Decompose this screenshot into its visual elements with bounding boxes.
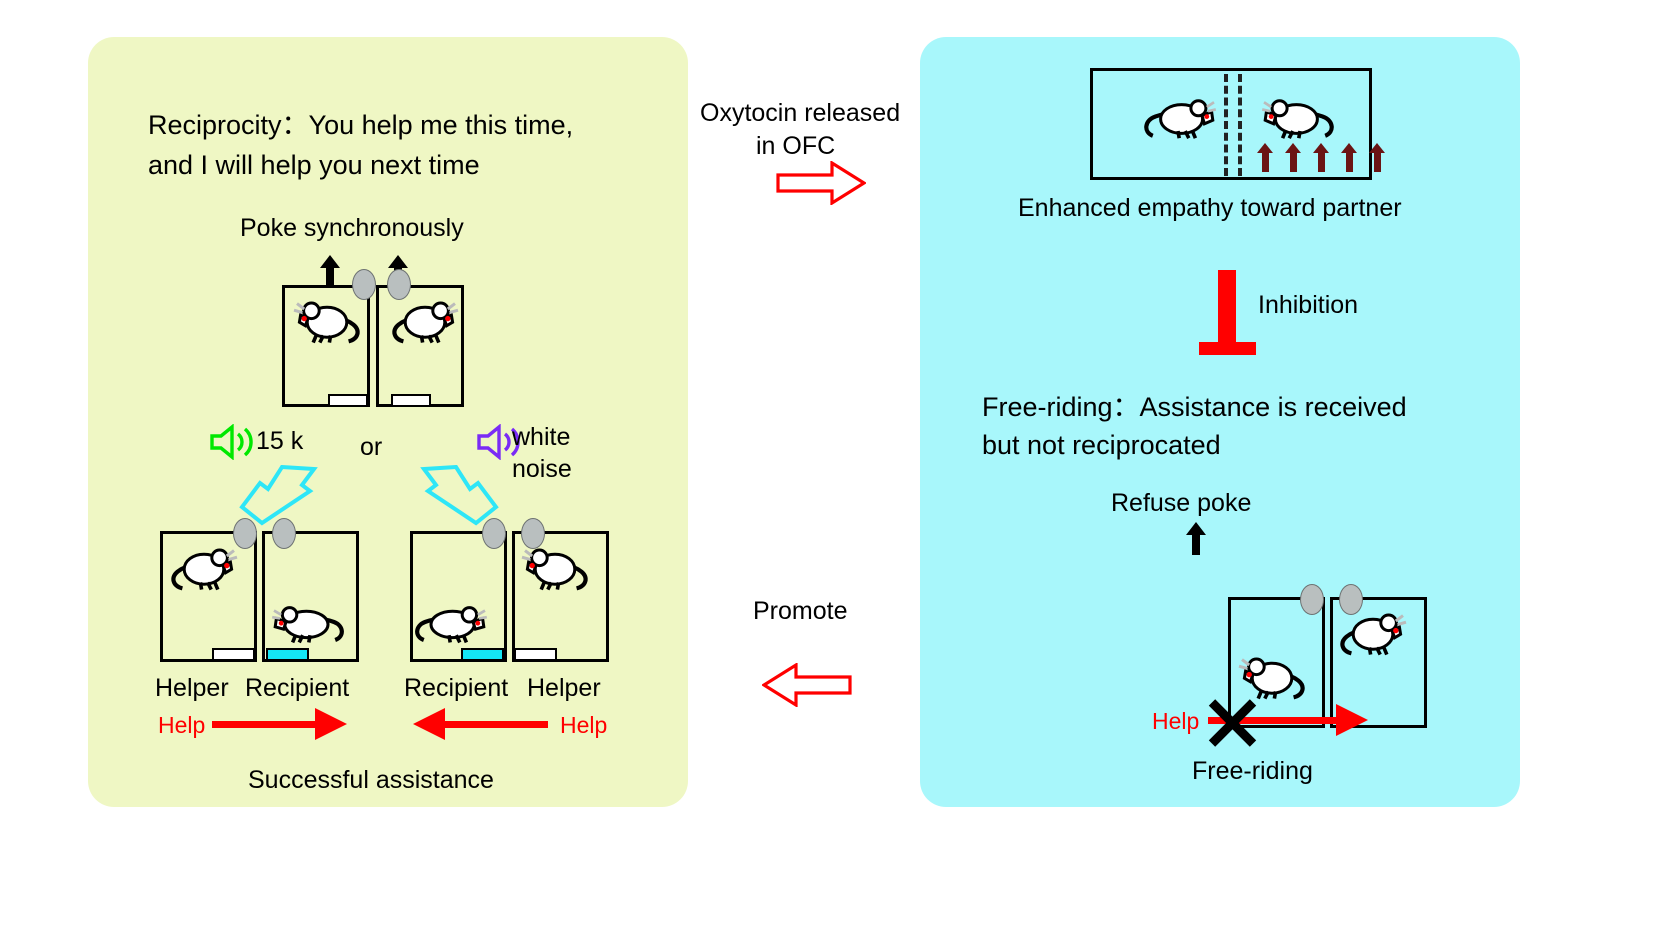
speaker-icon-green <box>208 424 256 460</box>
sound-label-noise: noise <box>512 453 572 486</box>
rat-empathy-left <box>1142 87 1220 157</box>
free-riding-footer: Free-riding <box>1192 755 1313 788</box>
freeriding-heading-line1: Free-riding：Assistance is received <box>982 390 1407 425</box>
help-label-a: Help <box>158 711 205 741</box>
label-b-recipient: Recipient <box>404 672 508 705</box>
arena-divider-line-1 <box>1224 74 1228 176</box>
sound-label-white: white <box>512 421 570 454</box>
label-a-helper: Helper <box>155 672 229 705</box>
rat-b-helper <box>518 538 592 610</box>
rat-b-recipient <box>413 597 491 659</box>
feeder-tray-a-left <box>212 648 255 661</box>
empathy-caption: Enhanced empathy toward partner <box>1018 192 1402 225</box>
oxytocin-label-line1: Oxytocin released <box>700 97 900 130</box>
rat-top-right <box>389 289 461 365</box>
nose-poke-port-fr-left <box>1300 584 1324 615</box>
feeder-tray-top-left <box>328 394 368 407</box>
empathy-up-arrow-2 <box>1290 152 1297 172</box>
sound-or-label: or <box>360 431 382 464</box>
block-arrow-left-icon <box>762 663 852 707</box>
reciprocity-heading-line2: and I will help you next time <box>148 148 480 183</box>
inhibition-cap <box>1199 342 1256 355</box>
poke-synchronously-label: Poke synchronously <box>240 212 464 245</box>
label-b-helper: Helper <box>527 672 601 705</box>
help-arrow-a-right <box>212 721 317 728</box>
empathy-up-arrow-4 <box>1346 152 1353 172</box>
nose-poke-port-b-left <box>482 518 506 549</box>
inhibition-label: Inhibition <box>1258 289 1358 322</box>
nose-poke-port-a-right <box>272 518 296 549</box>
empathy-up-arrow-3 <box>1318 152 1325 172</box>
sound-label-15k: 15 k <box>256 425 303 458</box>
promote-label: Promote <box>753 595 847 628</box>
feeder-tray-top-right <box>391 394 431 407</box>
rat-top-left <box>291 289 363 365</box>
freeriding-heading-line2: but not reciprocated <box>982 428 1221 463</box>
rat-freeriding-partner <box>1336 603 1410 675</box>
successful-assistance-footer: Successful assistance <box>248 764 494 797</box>
help-label-b: Help <box>560 711 607 741</box>
empathy-up-arrow-1 <box>1262 152 1269 172</box>
empathy-up-arrow-5 <box>1374 152 1381 172</box>
arena-divider-line-2 <box>1238 74 1242 176</box>
label-a-recipient: Recipient <box>245 672 349 705</box>
help-label-freeriding: Help <box>1152 707 1199 737</box>
inhibition-bar <box>1218 270 1236 348</box>
refuse-poke-up-arrow <box>1192 533 1200 555</box>
refuse-poke-label: Refuse poke <box>1111 487 1251 520</box>
feeder-tray-b-right <box>514 648 557 661</box>
rat-a-helper <box>167 538 241 610</box>
help-arrow-b-left <box>443 721 548 728</box>
reciprocity-heading-line1: Reciprocity：You help me this time, <box>148 108 573 143</box>
block-arrow-right-icon <box>776 161 866 205</box>
rat-a-recipient <box>268 597 346 659</box>
oxytocin-label-line2: in OFC <box>756 130 835 163</box>
